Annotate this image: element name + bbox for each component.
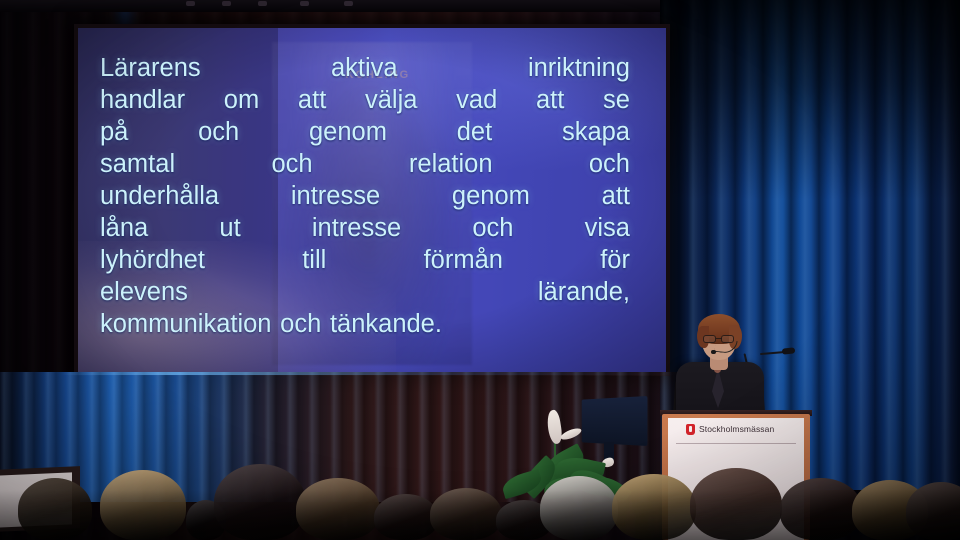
slide-word: se	[603, 84, 630, 116]
slide-word: underhålla	[100, 180, 219, 212]
slide-line: Lärarensaktivainriktning	[100, 52, 648, 84]
slide-word: och	[198, 116, 239, 148]
slide-word: förmån	[424, 244, 503, 276]
audience-head-highlight	[540, 476, 618, 540]
podium-branding: Stockholmsmässan	[686, 421, 798, 437]
headset-microphone-capsule	[711, 350, 716, 354]
conference-stage-scene: KOHLING Lärarensaktivainriktninghandlaro…	[0, 0, 960, 540]
slide-text-block: Lärarensaktivainriktninghandlaromattvälj…	[100, 52, 648, 340]
slide-word: inriktning	[528, 52, 630, 84]
audience-head	[690, 468, 782, 540]
slide-line: elevenslärande,	[100, 276, 648, 308]
slide-line: lånautintresseochvisa	[100, 212, 648, 244]
slide-word: ut	[219, 212, 240, 244]
speaker-person	[672, 312, 768, 424]
audience-head	[374, 494, 438, 540]
audience-head	[780, 478, 862, 540]
audience-head-highlight	[906, 482, 960, 540]
podium-label: Stockholmsmässan	[699, 424, 774, 434]
slide-word: och	[472, 212, 513, 244]
audience-head	[296, 478, 380, 540]
slide-word: och	[280, 308, 321, 340]
slide-word: relation	[409, 148, 493, 180]
audience-row	[0, 452, 960, 540]
stage-edge-highlight	[60, 372, 680, 375]
audience-head-highlight	[612, 474, 696, 540]
audience-head	[18, 478, 92, 540]
audience-head-highlight	[100, 470, 186, 540]
slide-word: på	[100, 116, 128, 148]
slide-word: att	[536, 84, 564, 116]
slide-word: lärande,	[538, 276, 630, 308]
slide-word: det	[457, 116, 492, 148]
slide-word: aktiva	[331, 52, 398, 84]
slide-line: kommunikationochtänkande.	[100, 308, 648, 340]
slide-word: lyhördhet	[100, 244, 205, 276]
slide-word: genom	[452, 180, 530, 212]
audience-head	[430, 488, 502, 540]
slide-line: samtalochrelationoch	[100, 148, 648, 180]
slide-word: intresse	[312, 212, 401, 244]
slide-line: lyhördhettillförmånför	[100, 244, 648, 276]
slide-word: att	[602, 180, 630, 212]
audience-head-highlight	[430, 488, 502, 540]
slide-word: samtal	[100, 148, 175, 180]
slide-word: låna	[100, 212, 148, 244]
slide-word: välja	[365, 84, 417, 116]
slide-line: underhållaintressegenomatt	[100, 180, 648, 212]
audience-head	[100, 470, 186, 540]
slide-word: elevens	[100, 276, 188, 308]
audience-head-highlight	[18, 478, 92, 540]
audience-head-highlight	[780, 478, 862, 540]
slide-word: och	[271, 148, 312, 180]
slide-line: handlaromattväljavadattse	[100, 84, 648, 116]
audience-head-highlight	[296, 478, 380, 540]
slide-word: vad	[456, 84, 497, 116]
slide-word: och	[589, 148, 630, 180]
slide-word: till	[302, 244, 326, 276]
slide-word: intresse	[291, 180, 380, 212]
slide-word: om	[224, 84, 259, 116]
audience-head	[612, 474, 696, 540]
slide-word: Lärarens	[100, 52, 201, 84]
slide-word: skapa	[562, 116, 630, 148]
slide-word: handlar	[100, 84, 185, 116]
slide-word: tänkande.	[330, 308, 442, 340]
audience-head	[214, 464, 306, 540]
audience-head-highlight	[374, 494, 438, 540]
stockholmsmassan-logo-icon	[686, 424, 695, 435]
slide-word: att	[298, 84, 326, 116]
curtain-top-shadow	[660, 0, 960, 200]
slide-line: påochgenomdetskapa	[100, 116, 648, 148]
podium-divider	[676, 443, 796, 444]
slide-word: visa	[585, 212, 630, 244]
slide-word: för	[600, 244, 630, 276]
audience-head	[540, 476, 618, 540]
audience-head-highlight	[690, 468, 782, 540]
audience-head-highlight	[214, 464, 306, 540]
slide-word: kommunikation	[100, 308, 272, 340]
slide-word: genom	[309, 116, 387, 148]
headset-microphone-arm	[714, 339, 737, 354]
audience-head	[906, 482, 960, 540]
